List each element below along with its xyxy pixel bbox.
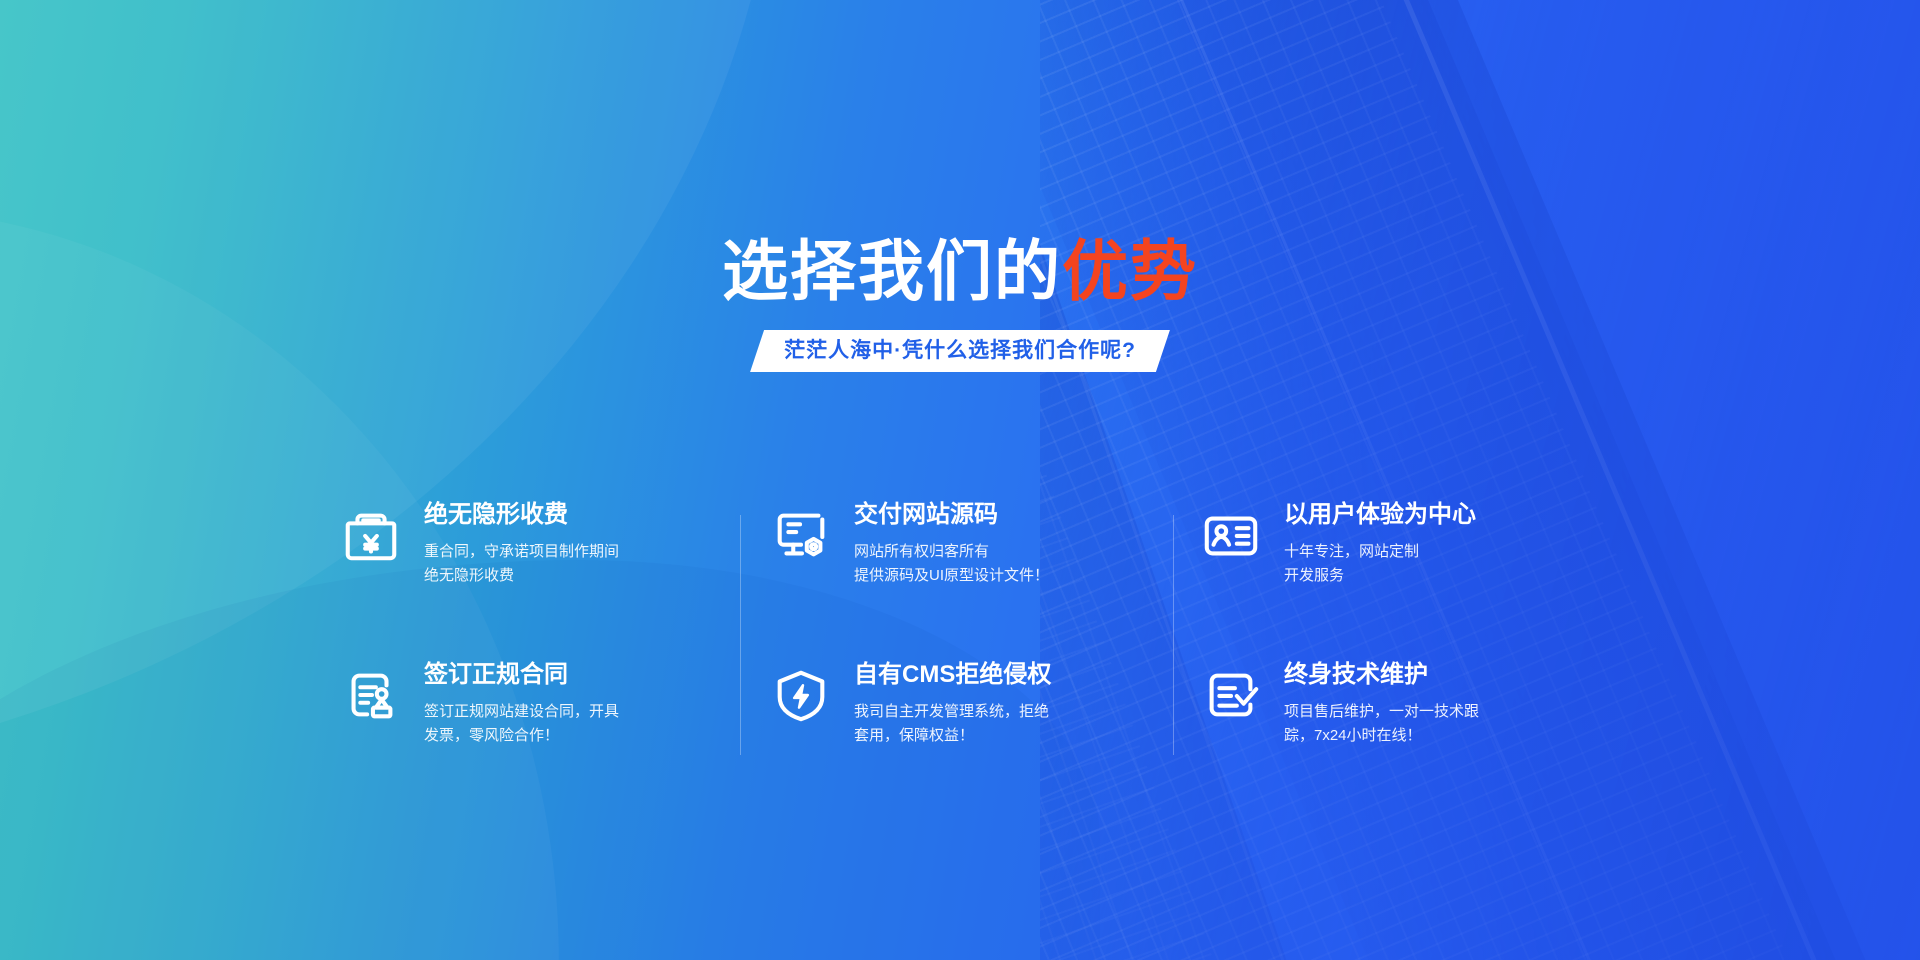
monitor-gear-source-code-icon bbox=[770, 504, 832, 566]
feature-desc: 项目售后维护，一对一技术跟 踪，7x24小时在线！ bbox=[1284, 700, 1479, 747]
feature-title: 绝无隐形收费 bbox=[424, 502, 619, 528]
feature-desc-line: 我司自主开发管理系统，拒绝 bbox=[854, 700, 1051, 723]
feature-desc-line: 绝无隐形收费 bbox=[424, 564, 619, 587]
title-block: 选择我们的优势 茫茫人海中·凭什么选择我们合作呢? bbox=[0, 238, 1920, 372]
page-title-accent: 优势 bbox=[1062, 234, 1198, 308]
id-card-user-icon bbox=[1200, 504, 1262, 566]
feature-desc-line: 重合同，守承诺项目制作期间 bbox=[424, 540, 619, 563]
subtitle-wrap: 茫茫人海中·凭什么选择我们合作呢? bbox=[0, 330, 1920, 372]
feature-text: 自有CMS拒绝侵权 我司自主开发管理系统，拒绝 套用，保障权益！ bbox=[854, 660, 1051, 747]
feature-item-own-cms[interactable]: 自有CMS拒绝侵权 我司自主开发管理系统，拒绝 套用，保障权益！ bbox=[770, 660, 1200, 820]
feature-desc-line: 十年专注，网站定制 bbox=[1284, 540, 1476, 563]
feature-title: 以用户体验为中心 bbox=[1284, 502, 1476, 528]
subtitle-banner: 茫茫人海中·凭什么选择我们合作呢? bbox=[750, 330, 1170, 372]
feature-item-formal-contract[interactable]: 签订正规合同 签订正规网站建设合同，开具 发票，零风险合作！ bbox=[340, 660, 770, 820]
feature-item-source-code[interactable]: 交付网站源码 网站所有权归客所有 提供源码及UI原型设计文件！ bbox=[770, 500, 1200, 660]
feature-item-user-experience[interactable]: 以用户体验为中心 十年专注，网站定制 开发服务 bbox=[1200, 500, 1600, 660]
feature-desc: 十年专注，网站定制 开发服务 bbox=[1284, 540, 1476, 587]
column-divider-1 bbox=[740, 515, 741, 755]
feature-text: 终身技术维护 项目售后维护，一对一技术跟 踪，7x24小时在线！ bbox=[1284, 660, 1479, 747]
page-title-main: 选择我们的 bbox=[722, 234, 1062, 308]
feature-desc-line: 项目售后维护，一对一技术跟 bbox=[1284, 700, 1479, 723]
feature-desc-line: 开发服务 bbox=[1284, 564, 1476, 587]
feature-text: 绝无隐形收费 重合同，守承诺项目制作期间 绝无隐形收费 bbox=[424, 500, 619, 587]
column-divider-2 bbox=[1173, 515, 1174, 755]
feature-title: 交付网站源码 bbox=[854, 502, 1049, 528]
document-check-icon bbox=[1200, 664, 1262, 726]
advantages-banner: 选择我们的优势 茫茫人海中·凭什么选择我们合作呢? bbox=[0, 0, 1920, 960]
feature-text: 以用户体验为中心 十年专注，网站定制 开发服务 bbox=[1284, 500, 1476, 587]
feature-desc-line: 提供源码及UI原型设计文件！ bbox=[854, 564, 1049, 587]
feature-text: 交付网站源码 网站所有权归客所有 提供源码及UI原型设计文件！ bbox=[854, 500, 1049, 587]
feature-desc-line: 网站所有权归客所有 bbox=[854, 540, 1049, 563]
feature-desc-line: 套用，保障权益！ bbox=[854, 724, 1051, 747]
banner-content: 选择我们的优势 茫茫人海中·凭什么选择我们合作呢? bbox=[0, 0, 1920, 960]
feature-text: 签订正规合同 签订正规网站建设合同，开具 发票，零风险合作！ bbox=[424, 660, 619, 747]
shield-bolt-icon bbox=[770, 664, 832, 726]
feature-desc: 网站所有权归客所有 提供源码及UI原型设计文件！ bbox=[854, 540, 1049, 587]
feature-title: 签订正规合同 bbox=[424, 662, 619, 688]
feature-title: 终身技术维护 bbox=[1284, 662, 1479, 688]
feature-title: 自有CMS拒绝侵权 bbox=[854, 662, 1051, 688]
feature-desc: 重合同，守承诺项目制作期间 绝无隐形收费 bbox=[424, 540, 619, 587]
feature-grid: 绝无隐形收费 重合同，守承诺项目制作期间 绝无隐形收费 bbox=[340, 500, 1600, 820]
feature-desc-line: 发票，零风险合作！ bbox=[424, 724, 619, 747]
money-bag-yen-icon bbox=[340, 504, 402, 566]
feature-desc: 签订正规网站建设合同，开具 发票，零风险合作！ bbox=[424, 700, 619, 747]
feature-desc-line: 踪，7x24小时在线！ bbox=[1284, 724, 1479, 747]
feature-desc: 我司自主开发管理系统，拒绝 套用，保障权益！ bbox=[854, 700, 1051, 747]
page-title: 选择我们的优势 bbox=[0, 238, 1920, 304]
feature-item-lifetime-maintenance[interactable]: 终身技术维护 项目售后维护，一对一技术跟 踪，7x24小时在线！ bbox=[1200, 660, 1600, 820]
contract-stamp-icon bbox=[340, 664, 402, 726]
feature-desc-line: 签订正规网站建设合同，开具 bbox=[424, 700, 619, 723]
feature-item-no-hidden-fees[interactable]: 绝无隐形收费 重合同，守承诺项目制作期间 绝无隐形收费 bbox=[340, 500, 770, 660]
